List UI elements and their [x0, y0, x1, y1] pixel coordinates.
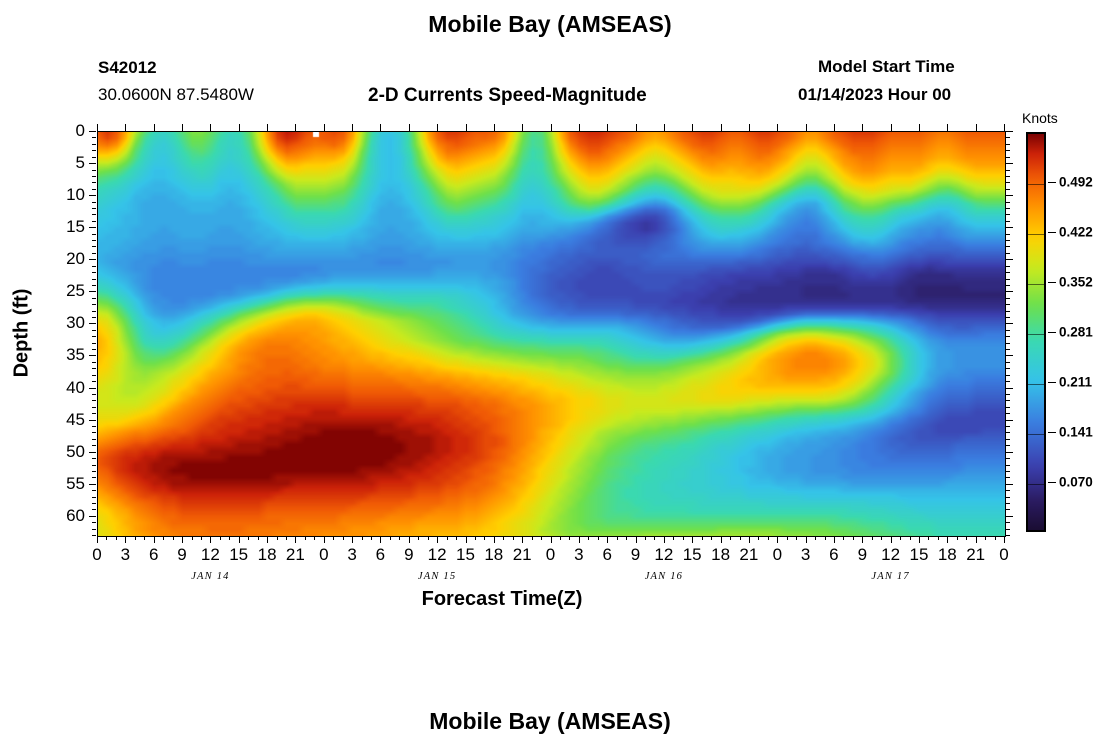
currents-speed-heatmap: [98, 132, 1005, 536]
chart-page: Mobile Bay (AMSEAS) S42012 30.0600N 87.5…: [0, 0, 1100, 750]
y-axis-tick-right: [1006, 163, 1013, 164]
x-axis-tick-label: 3: [347, 545, 356, 565]
y-axis-minor-tick-right: [1006, 279, 1010, 280]
y-axis-minor-tick-right: [1006, 202, 1010, 203]
x-axis-tick: [239, 536, 240, 543]
x-axis-tick-top: [919, 124, 920, 131]
y-axis-minor-tick: [92, 426, 96, 427]
y-axis-minor-tick-right: [1006, 246, 1010, 247]
x-axis-tick-label: 3: [574, 545, 583, 565]
y-axis-minor-tick: [92, 400, 96, 401]
y-axis-minor-tick-right: [1006, 304, 1010, 305]
y-axis-minor-tick: [92, 465, 96, 466]
colorbar-tick-label: 0.070: [1059, 475, 1093, 490]
y-axis-minor-tick: [92, 445, 96, 446]
x-axis-minor-tick: [957, 536, 958, 540]
y-axis-minor-tick-right: [1006, 240, 1010, 241]
y-axis-minor-tick: [92, 182, 96, 183]
y-axis-tick-label: 40: [45, 378, 85, 398]
x-axis-minor-tick: [560, 536, 561, 540]
y-axis-minor-tick-right: [1006, 503, 1010, 504]
x-axis-tick: [295, 536, 296, 543]
x-axis-tick: [834, 536, 835, 543]
y-axis-tick: [89, 195, 96, 196]
x-axis-tick: [947, 536, 948, 543]
x-axis-tick-top: [862, 124, 863, 131]
y-axis-minor-tick: [92, 535, 96, 536]
x-axis-minor-tick: [163, 536, 164, 540]
x-axis-tick: [324, 536, 325, 543]
y-axis-tick: [89, 163, 96, 164]
y-axis-minor-tick-right: [1006, 221, 1010, 222]
y-axis-minor-tick: [92, 202, 96, 203]
x-axis-minor-tick: [418, 536, 419, 540]
y-axis-minor-tick-right: [1006, 150, 1010, 151]
x-axis-minor-tick: [135, 536, 136, 540]
colorbar-tick: [1048, 282, 1056, 283]
x-axis-tick: [749, 536, 750, 543]
y-axis-minor-tick: [92, 234, 96, 235]
x-axis-tick-top: [721, 124, 722, 131]
y-axis-tick: [89, 420, 96, 421]
y-axis-minor-tick-right: [1006, 445, 1010, 446]
x-axis-minor-tick: [456, 536, 457, 540]
x-axis-minor-tick: [314, 536, 315, 540]
y-axis-minor-tick-right: [1006, 330, 1010, 331]
x-axis-minor-tick: [626, 536, 627, 540]
y-axis-tick: [89, 259, 96, 260]
y-axis-minor-tick: [92, 253, 96, 254]
colorbar-gradient: [1028, 134, 1044, 530]
y-axis-tick-label: 55: [45, 474, 85, 494]
y-axis-minor-tick: [92, 208, 96, 209]
x-axis-tick-label: 9: [631, 545, 640, 565]
x-axis-minor-tick: [730, 536, 731, 540]
x-axis-tick-top: [182, 124, 183, 131]
x-axis-tick: [97, 536, 98, 543]
y-axis-tick: [89, 131, 96, 132]
x-axis-minor-tick: [541, 536, 542, 540]
y-axis-tick-label: 35: [45, 345, 85, 365]
x-axis-minor-tick: [144, 536, 145, 540]
x-axis-tick: [692, 536, 693, 543]
x-axis-tick: [891, 536, 892, 543]
x-axis-tick: [409, 536, 410, 543]
y-axis-minor-tick-right: [1006, 272, 1010, 273]
x-axis-day-label: JAN 15: [418, 571, 456, 582]
y-axis-minor-tick-right: [1006, 490, 1010, 491]
x-axis-tick: [806, 536, 807, 543]
x-axis-tick-label: 15: [456, 545, 475, 565]
x-axis-tick-top: [352, 124, 353, 131]
x-axis-minor-tick: [484, 536, 485, 540]
x-axis-tick: [267, 536, 268, 543]
x-axis-minor-tick: [532, 536, 533, 540]
y-axis-minor-tick-right: [1006, 509, 1010, 510]
y-axis-tick-right: [1006, 355, 1013, 356]
colorbar-rule: [1028, 334, 1044, 335]
x-axis-minor-tick: [399, 536, 400, 540]
y-axis-minor-tick-right: [1006, 253, 1010, 254]
y-axis-tick-label: 5: [45, 153, 85, 173]
x-axis-minor-tick: [796, 536, 797, 540]
y-axis-tick-label: 60: [45, 506, 85, 526]
x-axis-tick-label: 12: [881, 545, 900, 565]
x-axis-tick-label: 21: [739, 545, 758, 565]
x-axis-tick: [466, 536, 467, 543]
x-axis-minor-tick: [588, 536, 589, 540]
y-axis-minor-tick-right: [1006, 439, 1010, 440]
x-axis-minor-tick: [503, 536, 504, 540]
y-axis-minor-tick-right: [1006, 182, 1010, 183]
y-axis-tick-label: 20: [45, 249, 85, 269]
y-axis-minor-tick: [92, 407, 96, 408]
x-axis-minor-tick: [853, 536, 854, 540]
y-axis-minor-tick: [92, 490, 96, 491]
y-axis-minor-tick: [92, 298, 96, 299]
x-axis-minor-tick: [305, 536, 306, 540]
colorbar-rule: [1028, 284, 1044, 285]
x-axis-tick: [976, 536, 977, 543]
y-axis-tick: [89, 227, 96, 228]
model-start-label: Model Start Time: [818, 57, 955, 77]
y-axis-tick-label: 25: [45, 281, 85, 301]
x-axis-tick-label: 15: [910, 545, 929, 565]
x-axis-tick-label: 18: [258, 545, 277, 565]
x-axis-minor-tick: [428, 536, 429, 540]
y-axis-minor-tick: [92, 477, 96, 478]
x-axis-minor-tick: [390, 536, 391, 540]
y-axis-tick-right: [1006, 227, 1013, 228]
y-axis-minor-tick-right: [1006, 234, 1010, 235]
page-footer-title: Mobile Bay (AMSEAS): [0, 708, 1100, 735]
x-axis-day-label: JAN 14: [191, 571, 229, 582]
y-axis-tick-right: [1006, 259, 1013, 260]
y-axis-minor-tick-right: [1006, 157, 1010, 158]
y-axis-tick-label: 50: [45, 442, 85, 462]
x-axis-minor-tick: [371, 536, 372, 540]
x-axis-minor-tick: [654, 536, 655, 540]
x-axis-minor-tick: [966, 536, 967, 540]
x-axis-tick-top: [210, 124, 211, 131]
x-axis-tick-top: [409, 124, 410, 131]
x-axis-tick-top: [522, 124, 523, 131]
x-axis-tick-label: 0: [92, 545, 101, 565]
x-axis-tick-label: 0: [999, 545, 1008, 565]
y-axis-minor-tick-right: [1006, 432, 1010, 433]
x-axis-tick-top: [806, 124, 807, 131]
x-axis-tick-top: [1004, 124, 1005, 131]
x-axis-minor-tick: [569, 536, 570, 540]
y-axis-minor-tick-right: [1006, 394, 1010, 395]
x-axis-tick-top: [692, 124, 693, 131]
x-axis-title: Forecast Time(Z): [0, 588, 1004, 611]
y-axis-minor-tick-right: [1006, 311, 1010, 312]
x-axis-minor-tick: [333, 536, 334, 540]
colorbar-tick: [1048, 432, 1056, 433]
x-axis-tick: [607, 536, 608, 543]
colorbar-rule: [1028, 434, 1044, 435]
y-axis-minor-tick-right: [1006, 465, 1010, 466]
y-axis-minor-tick-right: [1006, 381, 1010, 382]
x-axis-tick-top: [154, 124, 155, 131]
colorbar-tick-label: 0.211: [1059, 374, 1092, 389]
x-axis-tick-label: 21: [966, 545, 985, 565]
y-axis-minor-tick: [92, 413, 96, 414]
x-axis-tick-top: [466, 124, 467, 131]
y-axis-minor-tick: [92, 221, 96, 222]
station-id: S42012: [98, 58, 157, 78]
y-axis-minor-tick: [92, 240, 96, 241]
y-axis-minor-tick-right: [1006, 144, 1010, 145]
x-axis-minor-tick: [787, 536, 788, 540]
x-axis-tick-top: [636, 124, 637, 131]
x-axis-day-label: JAN 17: [871, 571, 909, 582]
y-axis-minor-tick: [92, 439, 96, 440]
y-axis-tick: [89, 484, 96, 485]
x-axis-tick-top: [947, 124, 948, 131]
x-axis-tick-top: [976, 124, 977, 131]
y-axis-tick-right: [1006, 323, 1013, 324]
x-axis-minor-tick: [475, 536, 476, 540]
y-axis-minor-tick-right: [1006, 343, 1010, 344]
y-axis-minor-tick-right: [1006, 458, 1010, 459]
x-axis-tick-label: 6: [149, 545, 158, 565]
y-axis-minor-tick: [92, 246, 96, 247]
x-axis-minor-tick: [116, 536, 117, 540]
colorbar-rule: [1028, 484, 1044, 485]
x-axis-tick: [721, 536, 722, 543]
x-axis-minor-tick: [277, 536, 278, 540]
y-axis-minor-tick: [92, 189, 96, 190]
x-axis-tick-label: 3: [801, 545, 810, 565]
x-axis-tick-top: [777, 124, 778, 131]
y-axis-minor-tick: [92, 432, 96, 433]
x-axis-minor-tick: [192, 536, 193, 540]
page-title: Mobile Bay (AMSEAS): [0, 11, 1100, 38]
x-axis-tick-label: 18: [938, 545, 957, 565]
y-axis-minor-tick-right: [1006, 477, 1010, 478]
x-axis-minor-tick: [711, 536, 712, 540]
y-axis-tick-right: [1006, 195, 1013, 196]
x-axis-tick: [437, 536, 438, 543]
x-axis-minor-tick: [758, 536, 759, 540]
x-axis-tick: [636, 536, 637, 543]
x-axis-minor-tick: [683, 536, 684, 540]
x-axis-tick: [862, 536, 863, 543]
x-axis-tick-top: [239, 124, 240, 131]
colorbar-tick-label: 0.422: [1059, 224, 1093, 239]
x-axis-tick: [125, 536, 126, 543]
x-axis-minor-tick: [598, 536, 599, 540]
y-axis-minor-tick: [92, 458, 96, 459]
y-axis-minor-tick-right: [1006, 407, 1010, 408]
x-axis-tick-label: 0: [773, 545, 782, 565]
x-axis-tick-label: 6: [376, 545, 385, 565]
x-axis-minor-tick: [815, 536, 816, 540]
y-axis-minor-tick-right: [1006, 529, 1010, 530]
y-axis-minor-tick: [92, 509, 96, 510]
x-axis-minor-tick: [173, 536, 174, 540]
y-axis-minor-tick: [92, 336, 96, 337]
x-axis-minor-tick: [513, 536, 514, 540]
x-axis-minor-tick: [928, 536, 929, 540]
x-axis-tick-top: [749, 124, 750, 131]
y-axis-minor-tick-right: [1006, 285, 1010, 286]
model-start-value: 01/14/2023 Hour 00: [798, 85, 951, 105]
y-axis-minor-tick: [92, 394, 96, 395]
x-axis-tick: [494, 536, 495, 543]
x-axis-minor-tick: [985, 536, 986, 540]
colorbar-tick-label: 0.492: [1059, 174, 1093, 189]
y-axis-minor-tick: [92, 471, 96, 472]
y-axis-minor-tick-right: [1006, 189, 1010, 190]
x-axis-tick-label: 12: [428, 545, 447, 565]
x-axis-minor-tick: [201, 536, 202, 540]
colorbar-rule: [1028, 184, 1044, 185]
colorbar-tick-label: 0.141: [1059, 424, 1093, 439]
x-axis-tick-label: 15: [683, 545, 702, 565]
y-axis-minor-tick: [92, 368, 96, 369]
x-axis-minor-tick: [645, 536, 646, 540]
y-axis-tick: [89, 355, 96, 356]
x-axis-tick-top: [324, 124, 325, 131]
x-axis-tick-label: 0: [546, 545, 555, 565]
y-axis-minor-tick-right: [1006, 336, 1010, 337]
x-axis-tick-label: 18: [711, 545, 730, 565]
x-axis-tick: [182, 536, 183, 543]
x-axis-minor-tick: [881, 536, 882, 540]
x-axis-minor-tick: [106, 536, 107, 540]
y-axis-minor-tick: [92, 362, 96, 363]
x-axis-minor-tick: [258, 536, 259, 540]
x-axis-tick-top: [97, 124, 98, 131]
x-axis-tick-top: [579, 124, 580, 131]
y-axis-minor-tick-right: [1006, 400, 1010, 401]
y-axis-tick-label: 30: [45, 313, 85, 333]
x-axis-minor-tick: [872, 536, 873, 540]
x-axis-minor-tick: [617, 536, 618, 540]
y-axis-tick-label: 10: [45, 185, 85, 205]
y-axis-minor-tick: [92, 317, 96, 318]
x-axis-tick-top: [437, 124, 438, 131]
x-axis-tick: [1004, 536, 1005, 543]
y-axis-tick-label: 15: [45, 217, 85, 237]
x-axis-tick-top: [891, 124, 892, 131]
y-axis-tick-right: [1006, 452, 1013, 453]
x-axis-tick-label: 18: [484, 545, 503, 565]
x-axis-tick: [919, 536, 920, 543]
y-axis-minor-tick: [92, 381, 96, 382]
y-axis-minor-tick-right: [1006, 137, 1010, 138]
y-axis-title: Depth (ft): [11, 289, 34, 378]
y-axis-tick-right: [1006, 131, 1013, 132]
x-axis-tick-top: [494, 124, 495, 131]
x-axis-minor-tick: [938, 536, 939, 540]
x-axis-tick-label: 6: [829, 545, 838, 565]
y-axis-minor-tick: [92, 176, 96, 177]
heatmap-plot-area: [97, 131, 1006, 537]
y-axis-minor-tick: [92, 503, 96, 504]
colorbar-tick-label: 0.281: [1059, 325, 1093, 340]
y-axis-tick-right: [1006, 291, 1013, 292]
y-axis-minor-tick: [92, 266, 96, 267]
y-axis-minor-tick: [92, 497, 96, 498]
y-axis-minor-tick-right: [1006, 426, 1010, 427]
colorbar-rule: [1028, 234, 1044, 235]
x-axis-minor-tick: [248, 536, 249, 540]
y-axis-minor-tick: [92, 349, 96, 350]
x-axis-tick-top: [295, 124, 296, 131]
y-axis-minor-tick-right: [1006, 471, 1010, 472]
x-axis-tick-top: [380, 124, 381, 131]
y-axis-tick-label: 0: [45, 121, 85, 141]
x-axis-tick-label: 9: [404, 545, 413, 565]
x-axis-minor-tick: [343, 536, 344, 540]
x-axis-minor-tick: [825, 536, 826, 540]
y-axis-tick-right: [1006, 516, 1013, 517]
x-axis-tick: [154, 536, 155, 543]
x-axis-tick: [210, 536, 211, 543]
station-coordinates: 30.0600N 87.5480W: [98, 85, 254, 105]
colorbar-rule: [1028, 384, 1044, 385]
y-axis-minor-tick: [92, 170, 96, 171]
x-axis-tick-top: [267, 124, 268, 131]
x-axis-tick-top: [551, 124, 552, 131]
colorbar: [1026, 132, 1046, 532]
y-axis-minor-tick: [92, 150, 96, 151]
x-axis-minor-tick: [447, 536, 448, 540]
x-axis-minor-tick: [286, 536, 287, 540]
x-axis-tick-label: 12: [201, 545, 220, 565]
y-axis-minor-tick: [92, 343, 96, 344]
y-axis-minor-tick-right: [1006, 362, 1010, 363]
y-axis-minor-tick: [92, 529, 96, 530]
y-axis-minor-tick-right: [1006, 368, 1010, 369]
y-axis-minor-tick: [92, 522, 96, 523]
x-axis-minor-tick: [702, 536, 703, 540]
y-axis-tick: [89, 291, 96, 292]
x-axis-day-label: JAN 16: [645, 571, 683, 582]
x-axis-tick: [380, 536, 381, 543]
y-axis-minor-tick-right: [1006, 298, 1010, 299]
y-axis-minor-tick-right: [1006, 522, 1010, 523]
y-axis-minor-tick-right: [1006, 349, 1010, 350]
x-axis-tick-label: 15: [229, 545, 248, 565]
x-axis-minor-tick: [740, 536, 741, 540]
x-axis-tick-top: [607, 124, 608, 131]
y-axis-minor-tick: [92, 279, 96, 280]
colorbar-tick: [1048, 182, 1056, 183]
y-axis-minor-tick: [92, 137, 96, 138]
colorbar-unit-label: Knots: [1022, 110, 1058, 126]
x-axis-minor-tick: [843, 536, 844, 540]
x-axis-tick-label: 6: [602, 545, 611, 565]
y-axis-minor-tick: [92, 157, 96, 158]
x-axis-tick-label: 0: [319, 545, 328, 565]
x-axis-tick-top: [125, 124, 126, 131]
x-axis-minor-tick: [229, 536, 230, 540]
x-axis-tick-label: 21: [286, 545, 305, 565]
y-axis-tick-right: [1006, 388, 1013, 389]
y-axis-minor-tick: [92, 330, 96, 331]
y-axis-minor-tick-right: [1006, 176, 1010, 177]
y-axis-minor-tick: [92, 272, 96, 273]
y-axis-tick-label: 45: [45, 410, 85, 430]
colorbar-tick: [1048, 382, 1056, 383]
y-axis-tick: [89, 452, 96, 453]
x-axis-tick: [579, 536, 580, 543]
